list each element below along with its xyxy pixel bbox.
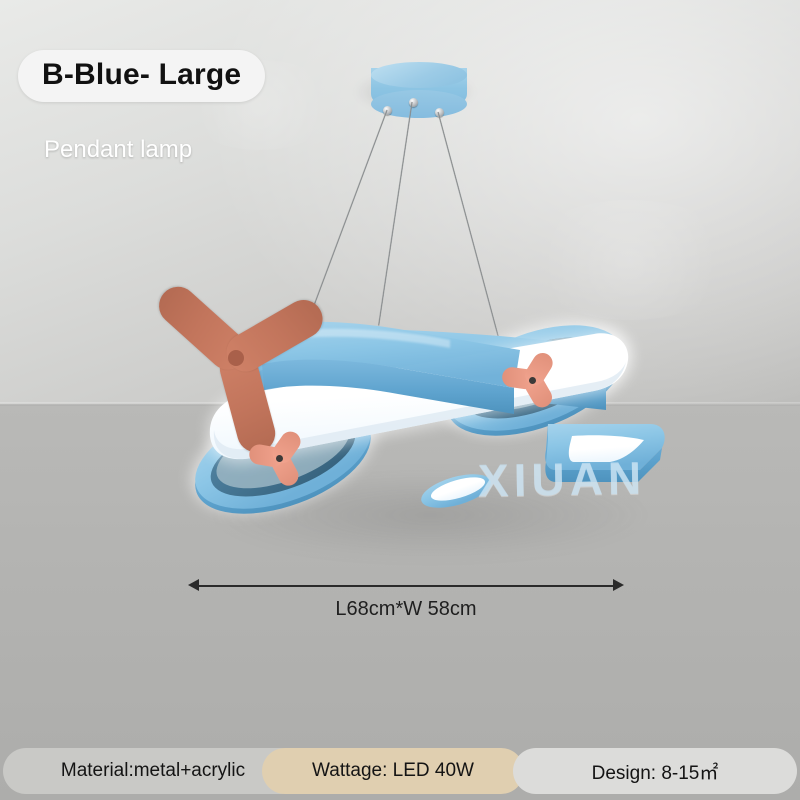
spec-wattage: Wattage: LED 40W xyxy=(262,748,524,794)
product-image: XIUAN L68cm*W 58cm B-Blue- Large Pendant… xyxy=(0,0,800,800)
airplane-pendant-lamp: XIUAN xyxy=(0,0,800,800)
spec-material: Material:metal+acrylic xyxy=(3,748,303,794)
propeller-hub xyxy=(228,350,244,366)
mini-propeller-hub xyxy=(529,377,536,384)
dimension-arrow: L68cm*W 58cm xyxy=(188,578,624,594)
main-propeller xyxy=(146,258,326,458)
product-type-caption: Pendant lamp xyxy=(44,136,192,164)
arrow-line xyxy=(196,585,616,587)
variant-badge: B-Blue- Large xyxy=(18,50,265,102)
mini-propeller-hub xyxy=(276,455,283,462)
spec-bar: Material:metal+acrylic Wattage: LED 40W … xyxy=(0,748,800,794)
brand-watermark: XIUAN xyxy=(478,451,647,508)
arrow-head-right-icon xyxy=(613,579,624,591)
lamp-body-svg xyxy=(0,0,800,800)
dimension-label: L68cm*W 58cm xyxy=(188,598,624,621)
spec-design: Design: 8-15㎡ xyxy=(513,748,797,794)
